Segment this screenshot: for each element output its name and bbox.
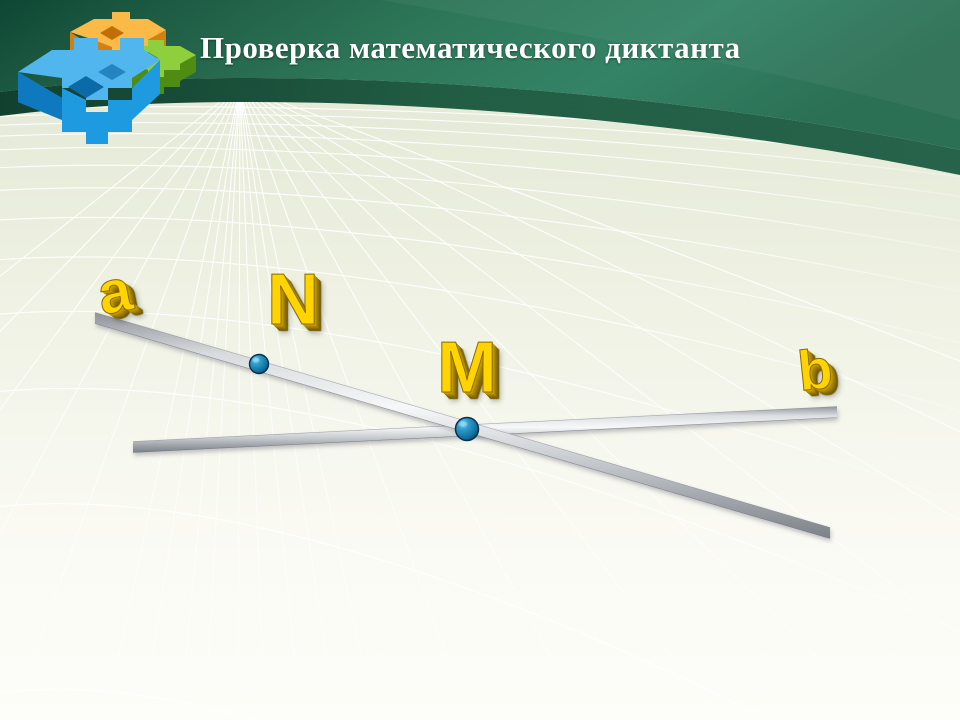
label-point-M: M [437,332,497,404]
label-point-N: N [267,264,319,336]
point-N [250,355,269,374]
label-line-b: b [795,340,835,399]
slide-canvas: Проверка математического диктанта [0,0,960,720]
point-M [456,418,479,441]
